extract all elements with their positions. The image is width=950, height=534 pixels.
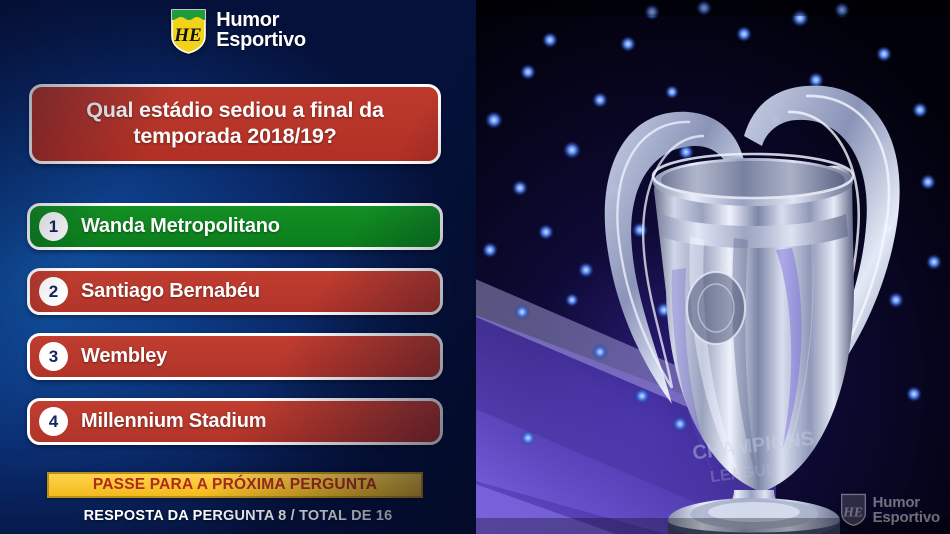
question-counter: RESPOSTA DA PERGUNTA 8 / TOTAL DE 16 <box>0 508 476 524</box>
quiz-card-screenshot: HE Humor Esportivo Qual estádio sediou a… <box>0 0 950 534</box>
quiz-panel: HE Humor Esportivo Qual estádio sediou a… <box>0 0 476 534</box>
option-number-1: 1 <box>39 212 68 241</box>
option-row-3[interactable]: 3 Wembley <box>27 333 443 380</box>
next-question-banner[interactable]: PASSE PARA A PRÓXIMA PERGUNTA <box>47 472 423 498</box>
brand-name-line2: Esportivo <box>216 31 306 51</box>
shield-icon: HE <box>170 8 207 54</box>
option-label-4: Millennium Stadium <box>81 410 266 433</box>
option-row-2[interactable]: 2 Santiago Bernabéu <box>27 268 443 315</box>
option-row-1[interactable]: 1 Wanda Metropolitano <box>27 203 443 250</box>
option-label-3: Wembley <box>81 345 167 368</box>
photo-watermark: HE Humor Esportivo <box>840 493 940 526</box>
question-text: Qual estádio sediou a final da temporada… <box>48 97 422 149</box>
next-question-label: PASSE PARA A PRÓXIMA PERGUNTA <box>93 477 377 493</box>
watermark-shield-icon: HE <box>840 493 867 526</box>
watermark-text: Humor Esportivo <box>873 495 940 525</box>
options-list: 1 Wanda Metropolitano 2 Santiago Bernabé… <box>27 203 443 463</box>
watermark-line2: Esportivo <box>873 510 940 525</box>
svg-text:HE: HE <box>173 25 201 46</box>
trophy-photo-image: CHAMPIONS LEAGUE <box>476 0 950 534</box>
option-number-3: 3 <box>39 342 68 371</box>
brand-logo: HE Humor Esportivo <box>0 8 476 54</box>
watermark-line1: Humor <box>873 495 940 510</box>
brand-name: Humor Esportivo <box>216 11 306 51</box>
option-number-2: 2 <box>39 277 68 306</box>
trophy-photo: CHAMPIONS LEAGUE <box>476 0 950 534</box>
svg-text:HE: HE <box>842 505 863 520</box>
option-label-2: Santiago Bernabéu <box>81 280 260 303</box>
option-row-4[interactable]: 4 Millennium Stadium <box>27 398 443 445</box>
question-banner: Qual estádio sediou a final da temporada… <box>29 84 441 164</box>
option-label-1: Wanda Metropolitano <box>81 215 280 238</box>
option-number-4: 4 <box>39 407 68 436</box>
